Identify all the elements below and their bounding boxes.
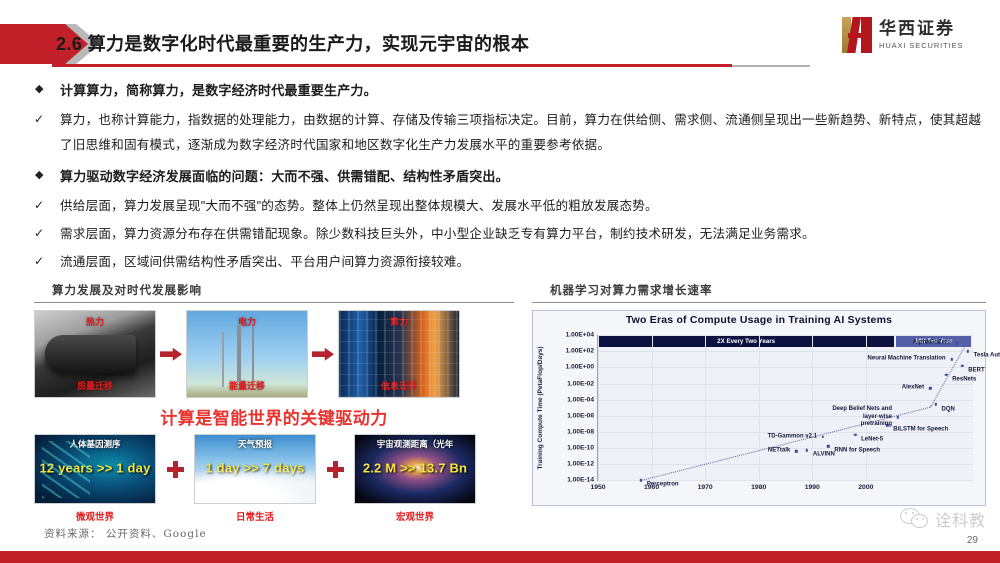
chart-y-tick: 1.00E+00	[566, 364, 594, 371]
chart-data-point	[822, 435, 824, 437]
chart-plot-area: 2X Every Two Years10X Per Year1950196019…	[597, 335, 973, 481]
arrow-right-icon	[156, 310, 186, 398]
bullet-text: 计算算力，简称算力，是数字经济时代最重要生产力。	[60, 78, 377, 103]
chart-point-label: TD-Gammon v2.1	[768, 433, 817, 440]
chart-data-point	[966, 350, 968, 352]
chart-data-point	[897, 416, 899, 418]
content-panels: 算力发展及对时代发展影响 热力 质量迁移 电力 能量迁移 算力	[34, 282, 986, 510]
scale-row: 人体基因测序 12 years >> 1 day 微观世界 天气预报 1 day…	[34, 434, 514, 523]
title-underline-gray	[732, 65, 810, 67]
slide: 2.6 算力是数字化时代最重要的生产力，实现元宇宙的根本 华西证券 HUAXI …	[0, 0, 1000, 563]
daily-life-cell: 天气预报 1 day >> 7 days 日常生活	[194, 434, 316, 523]
tile-top-label: 天气预报	[195, 438, 315, 450]
chart-point-label: ALVINN	[813, 452, 835, 459]
plus-icon	[316, 434, 354, 504]
bullet-text: 需求层面，算力资源分布存在供需错配现象。除少数科技巨头外，中小型企业缺乏专有算力…	[60, 222, 815, 247]
logo-text-en: HUAXI SECURITIES	[879, 42, 963, 50]
logo-text-cn: 华西证券	[879, 21, 963, 38]
bullet-item: ✓ 流通层面，区域间供需结构性矛盾突出、平台用户间算力资源衔接较难。	[34, 250, 986, 275]
chart-point-label: Deep Belief Nets and layer-wise pretrain…	[830, 406, 892, 428]
weather-forecast-image: 天气预报 1 day >> 7 days	[194, 434, 316, 504]
chart-title: Two Eras of Compute Usage in Training AI…	[533, 314, 985, 326]
title-underline-red	[52, 64, 732, 67]
chart-point-label: AlphaGoZero	[913, 340, 951, 347]
galaxy-image: 宇宙观测距离（光年 2.2 M >> 13.7 Bn	[354, 434, 476, 504]
watermark-text: 诠科教	[935, 507, 986, 531]
chart-y-tick: 1.00E-12	[567, 461, 594, 468]
chart-gridline-h	[598, 400, 973, 401]
chart-y-tick: 1.00E-06	[567, 412, 594, 419]
tile-caption: 日常生活	[194, 509, 316, 523]
page-number: 29	[967, 535, 978, 546]
page-title: 2.6 算力是数字化时代最重要的生产力，实现元宇宙的根本	[56, 30, 529, 56]
chart-gridline-h	[598, 416, 973, 417]
server-racks-image: 算力 信息迁移	[338, 310, 460, 398]
left-panel-title: 算力发展及对时代发展影响	[34, 282, 514, 298]
chart-point-label: LeNet-5	[861, 436, 883, 443]
check-bullet-icon: ✓	[34, 250, 60, 272]
chart-gridline-v	[705, 335, 706, 480]
brand-logo: 华西证券 HUAXI SECURITIES	[842, 14, 982, 56]
check-bullet-icon: ✓	[34, 222, 60, 244]
wechat-watermark: 诠科教	[900, 507, 986, 531]
chart-point-label: BiLSTM for Speech	[893, 427, 948, 434]
genome-sequencing-image: 人体基因测序 12 years >> 1 day	[34, 434, 156, 504]
chart-data-point	[950, 358, 952, 360]
tile-bottom-label: 信息迁移	[339, 379, 459, 392]
chart-gridline-h	[598, 351, 973, 352]
left-panel-body: 热力 质量迁移 电力 能量迁移 算力 信息迁移 计算是智能世界的关键驱动力	[34, 310, 514, 523]
macro-world-cell: 宇宙观测距离（光年 2.2 M >> 13.7 Bn 宏观世界	[354, 434, 476, 523]
chart-point-label: Neural Machine Translation	[868, 356, 946, 363]
chart-y-tick: 1.00E-02	[567, 380, 594, 387]
chart-gridline-v	[759, 335, 760, 480]
chart-point-label: NETtalk	[768, 447, 790, 454]
compute-trend-chart: Two Eras of Compute Usage in Training AI…	[532, 310, 986, 506]
bullet-item: ✓ 需求层面，算力资源分布存在供需错配现象。除少数科技巨头外，中小型企业缺乏专有…	[34, 222, 986, 247]
arrow-right-icon	[308, 310, 338, 398]
bullet-list: ◆ 计算算力，简称算力，是数字经济时代最重要生产力。 ✓ 算力，也称计算能力，指…	[34, 78, 986, 278]
chart-y-tick: 1.00E-08	[567, 428, 594, 435]
bullet-item: ◆ 计算算力，简称算力，是数字经济时代最重要生产力。	[34, 78, 986, 103]
chart-data-point	[806, 449, 808, 451]
bullet-item: ✓ 算力，也称计算能力，指数据的处理能力，由数据的计算、存储及传输三项指标决定。…	[34, 108, 986, 158]
center-highlight-caption: 计算是智能世界的关键驱动力	[34, 404, 514, 429]
chart-point-label: ResNets	[952, 376, 976, 383]
chart-data-point	[854, 434, 856, 436]
chart-point-label: BERT	[968, 367, 984, 374]
chart-data-point	[929, 387, 931, 389]
chart-data-point	[795, 450, 797, 452]
right-chart-panel: 机器学习对算力需求增长速率 Two Eras of Compute Usage …	[532, 282, 986, 510]
tile-bottom-label: 能量迁移	[187, 379, 307, 392]
chart-x-tick: 1980	[751, 484, 766, 491]
wechat-icon	[900, 508, 930, 530]
left-figure-panel: 算力发展及对时代发展影响 热力 质量迁移 电力 能量迁移 算力	[34, 282, 514, 510]
diamond-bullet-icon: ◆	[34, 78, 60, 100]
chart-point-label: Tesla Autopilot	[974, 353, 1000, 360]
chart-point-label: AlexNet	[902, 385, 924, 392]
chart-data-point	[827, 445, 829, 447]
chart-point-label: DQN	[942, 406, 955, 413]
right-panel-title: 机器学习对算力需求增长速率	[532, 282, 986, 298]
huaxi-monogram-icon	[842, 17, 872, 53]
chart-y-tick: 1.00E-14	[567, 477, 594, 484]
diamond-bullet-icon: ◆	[34, 164, 60, 186]
micro-world-cell: 人体基因测序 12 years >> 1 day 微观世界	[34, 434, 156, 523]
tile-metric-label: 2.2 M >> 13.7 Bn	[355, 460, 475, 475]
chart-data-point	[961, 365, 963, 367]
bullet-text: 算力，也称计算能力，指数据的处理能力，由数据的计算、存储及传输三项指标决定。目前…	[60, 108, 986, 158]
chart-data-point	[945, 373, 947, 375]
chart-y-tick: 1.00E+04	[566, 332, 594, 339]
bullet-item: ◆ 算力驱动数字经济发展面临的问题：大而不强、供需错配、结构性矛盾突出。	[34, 164, 986, 189]
chart-data-point	[956, 342, 958, 344]
tile-bottom-label: 质量迁移	[35, 379, 155, 392]
tile-metric-label: 12 years >> 1 day	[35, 460, 155, 475]
tile-top-label: 宇宙观测距离（光年	[355, 438, 475, 450]
chart-x-tick: 1950	[590, 484, 605, 491]
chart-x-tick: 1970	[698, 484, 713, 491]
chart-gridline-h	[598, 335, 973, 336]
steam-train-image: 热力 质量迁移	[34, 310, 156, 398]
chart-point-label: RNN for Speech	[834, 448, 880, 455]
right-panel-divider	[532, 302, 986, 303]
footer-bar	[0, 551, 1000, 563]
chart-data-point	[640, 479, 642, 481]
tile-top-label: 电力	[187, 315, 307, 328]
tile-top-label: 人体基因测序	[35, 438, 155, 450]
chart-y-tick: 1.00E-04	[567, 396, 594, 403]
chart-gridline-h	[598, 367, 973, 368]
bullet-text: 供给层面，算力发展呈现"大而不强"的态势。整体上仍然呈现出整体规模大、发展水平低…	[60, 194, 658, 219]
tile-caption: 宏观世界	[354, 509, 476, 523]
tile-caption: 微观世界	[34, 509, 156, 523]
check-bullet-icon: ✓	[34, 194, 60, 216]
power-lines-image: 电力 能量迁移	[186, 310, 308, 398]
chart-gridline-h	[598, 464, 973, 465]
chart-gridline-v	[652, 335, 653, 480]
bullet-item: ✓ 供给层面，算力发展呈现"大而不强"的态势。整体上仍然呈现出整体规模大、发展水…	[34, 194, 986, 219]
left-panel-divider	[34, 302, 514, 303]
chart-point-label: Perceptron	[647, 482, 679, 489]
plus-icon	[156, 434, 194, 504]
bullet-text: 流通层面，区域间供需结构性矛盾突出、平台用户间算力资源衔接较难。	[60, 250, 469, 275]
evolution-row: 热力 质量迁移 电力 能量迁移 算力 信息迁移	[34, 310, 514, 398]
chart-y-axis-label: Training Compute Time (PetaFlop/Days)	[537, 347, 544, 470]
chart-data-point	[934, 403, 936, 405]
tile-metric-label: 1 day >> 7 days	[195, 460, 315, 475]
chart-y-tick: 1.00E-10	[567, 444, 594, 451]
tile-top-label: 热力	[35, 315, 155, 328]
chart-gridline-v	[598, 335, 599, 480]
chart-x-tick: 1990	[805, 484, 820, 491]
chart-era-band: 2X Every Two Years	[598, 336, 894, 347]
tile-top-label: 算力	[339, 315, 459, 328]
bullet-text: 算力驱动数字经济发展面临的问题：大而不强、供需错配、结构性矛盾突出。	[60, 164, 509, 189]
chart-x-tick: 2000	[858, 484, 873, 491]
chart-y-tick: 1.00E+02	[566, 348, 594, 355]
source-note: 资料来源： 公开资料、Google	[44, 526, 207, 541]
check-bullet-icon: ✓	[34, 108, 60, 130]
